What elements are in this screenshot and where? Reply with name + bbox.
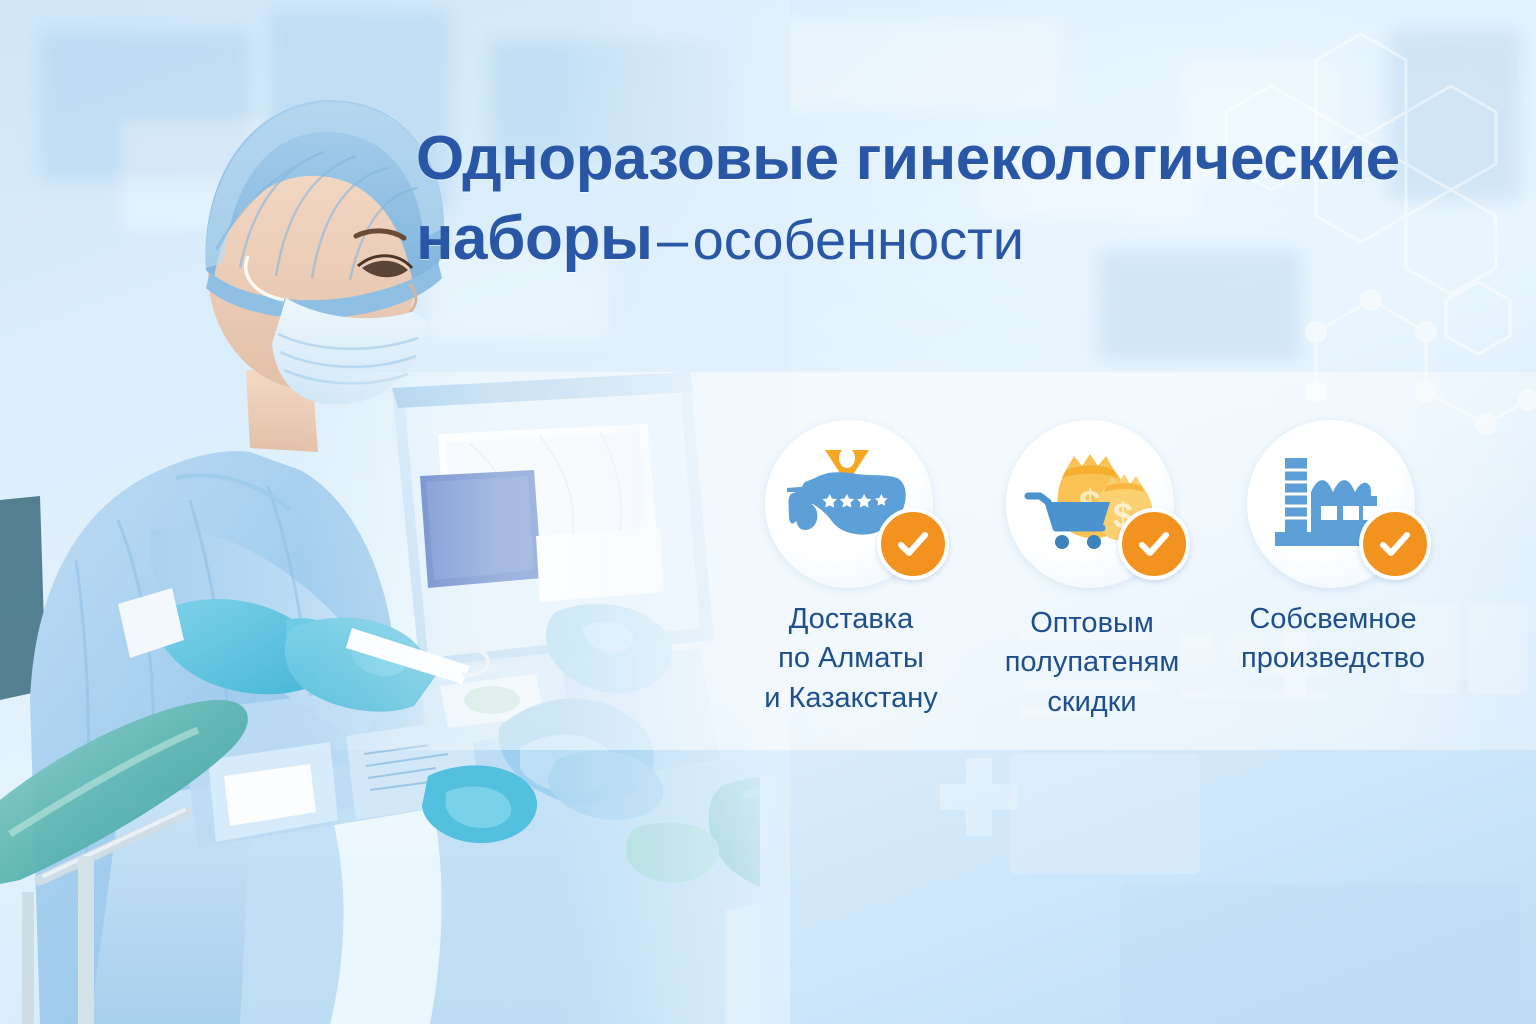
feature-wholesale-caption: Оптовым полупатеням скидки: [1005, 604, 1180, 722]
check-badge-wholesale: [1118, 508, 1190, 580]
title-line-1: Одноразовые гинекологические: [416, 126, 1496, 192]
title-bold-part-1: Одноразовые гинекологические: [416, 124, 1400, 193]
check-badge-production: [1359, 508, 1431, 580]
title-line-2: наборы – особенности: [416, 206, 1496, 272]
feature-delivery-caption: Доставка по Алматы и Казакстану: [764, 600, 938, 718]
promo-banner: Одноразовые гинекологические наборы – ос…: [0, 0, 1536, 1024]
title-dash: –: [657, 208, 688, 271]
feature-delivery[interactable]: Доставка по Алматы и Казакстану: [742, 418, 960, 718]
feature-production[interactable]: Собсвемное произведство: [1224, 418, 1442, 679]
check-badge-delivery: [877, 508, 949, 580]
title-bold-part-2: наборы: [416, 204, 653, 273]
feature-wholesale[interactable]: $ $: [983, 418, 1201, 722]
features-row: Доставка по Алматы и Казакстану $ $: [742, 418, 1442, 728]
feature-production-caption: Собсвемное произведство: [1241, 600, 1425, 679]
feature-delivery-medallion: [751, 418, 951, 588]
page-title: Одноразовые гинекологические наборы – ос…: [416, 126, 1496, 273]
feature-production-medallion: [1233, 418, 1433, 588]
title-regular-part: особенности: [693, 208, 1024, 271]
feature-wholesale-medallion: $ $: [992, 418, 1192, 588]
